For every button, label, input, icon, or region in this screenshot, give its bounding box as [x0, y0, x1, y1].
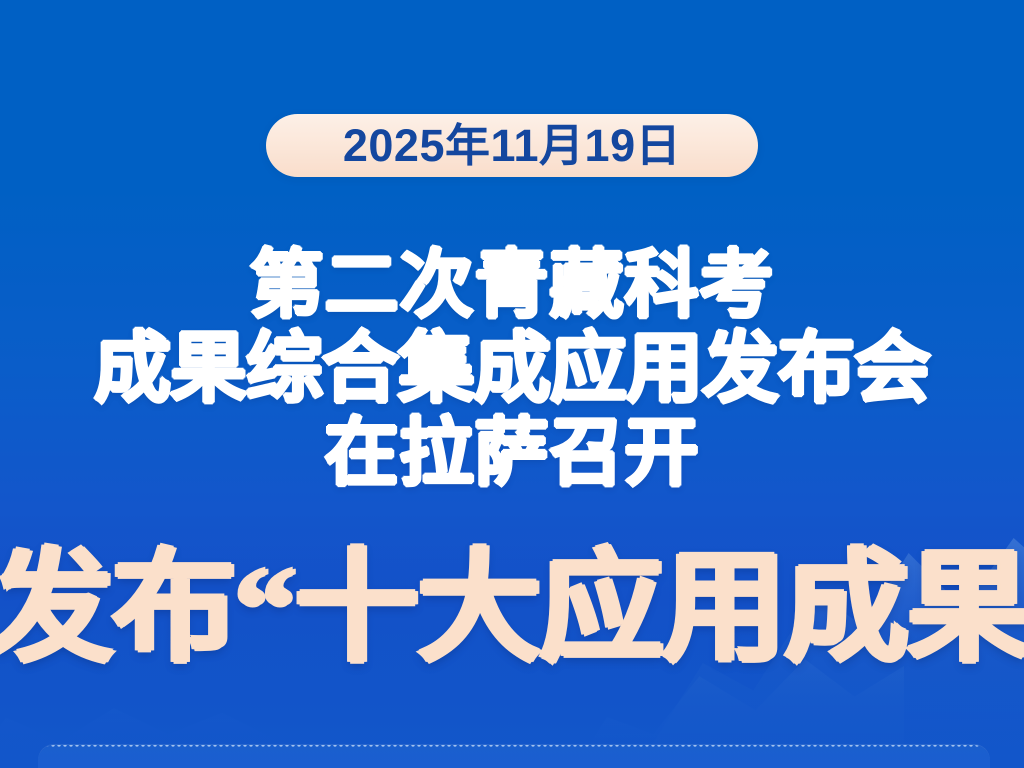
poster-canvas: 2025年11月19日 第二次青藏科考 成果综合集成应用发布会 在拉萨召开 发布…	[0, 0, 1024, 768]
date-badge: 2025年11月19日	[266, 114, 758, 177]
headline-text: 发布“十大应用成果”	[0, 548, 1024, 672]
bottom-panel	[38, 745, 990, 768]
scalloped-edge-divider	[38, 745, 990, 750]
title-line-2: 成果综合集成应用发布会	[0, 327, 1024, 411]
title-line-3: 在拉萨召开	[0, 411, 1024, 495]
poster-title: 第二次青藏科考 成果综合集成应用发布会 在拉萨召开	[0, 243, 1024, 495]
title-line-1: 第二次青藏科考	[0, 243, 1024, 327]
date-badge-label: 2025年11月19日	[343, 123, 681, 168]
